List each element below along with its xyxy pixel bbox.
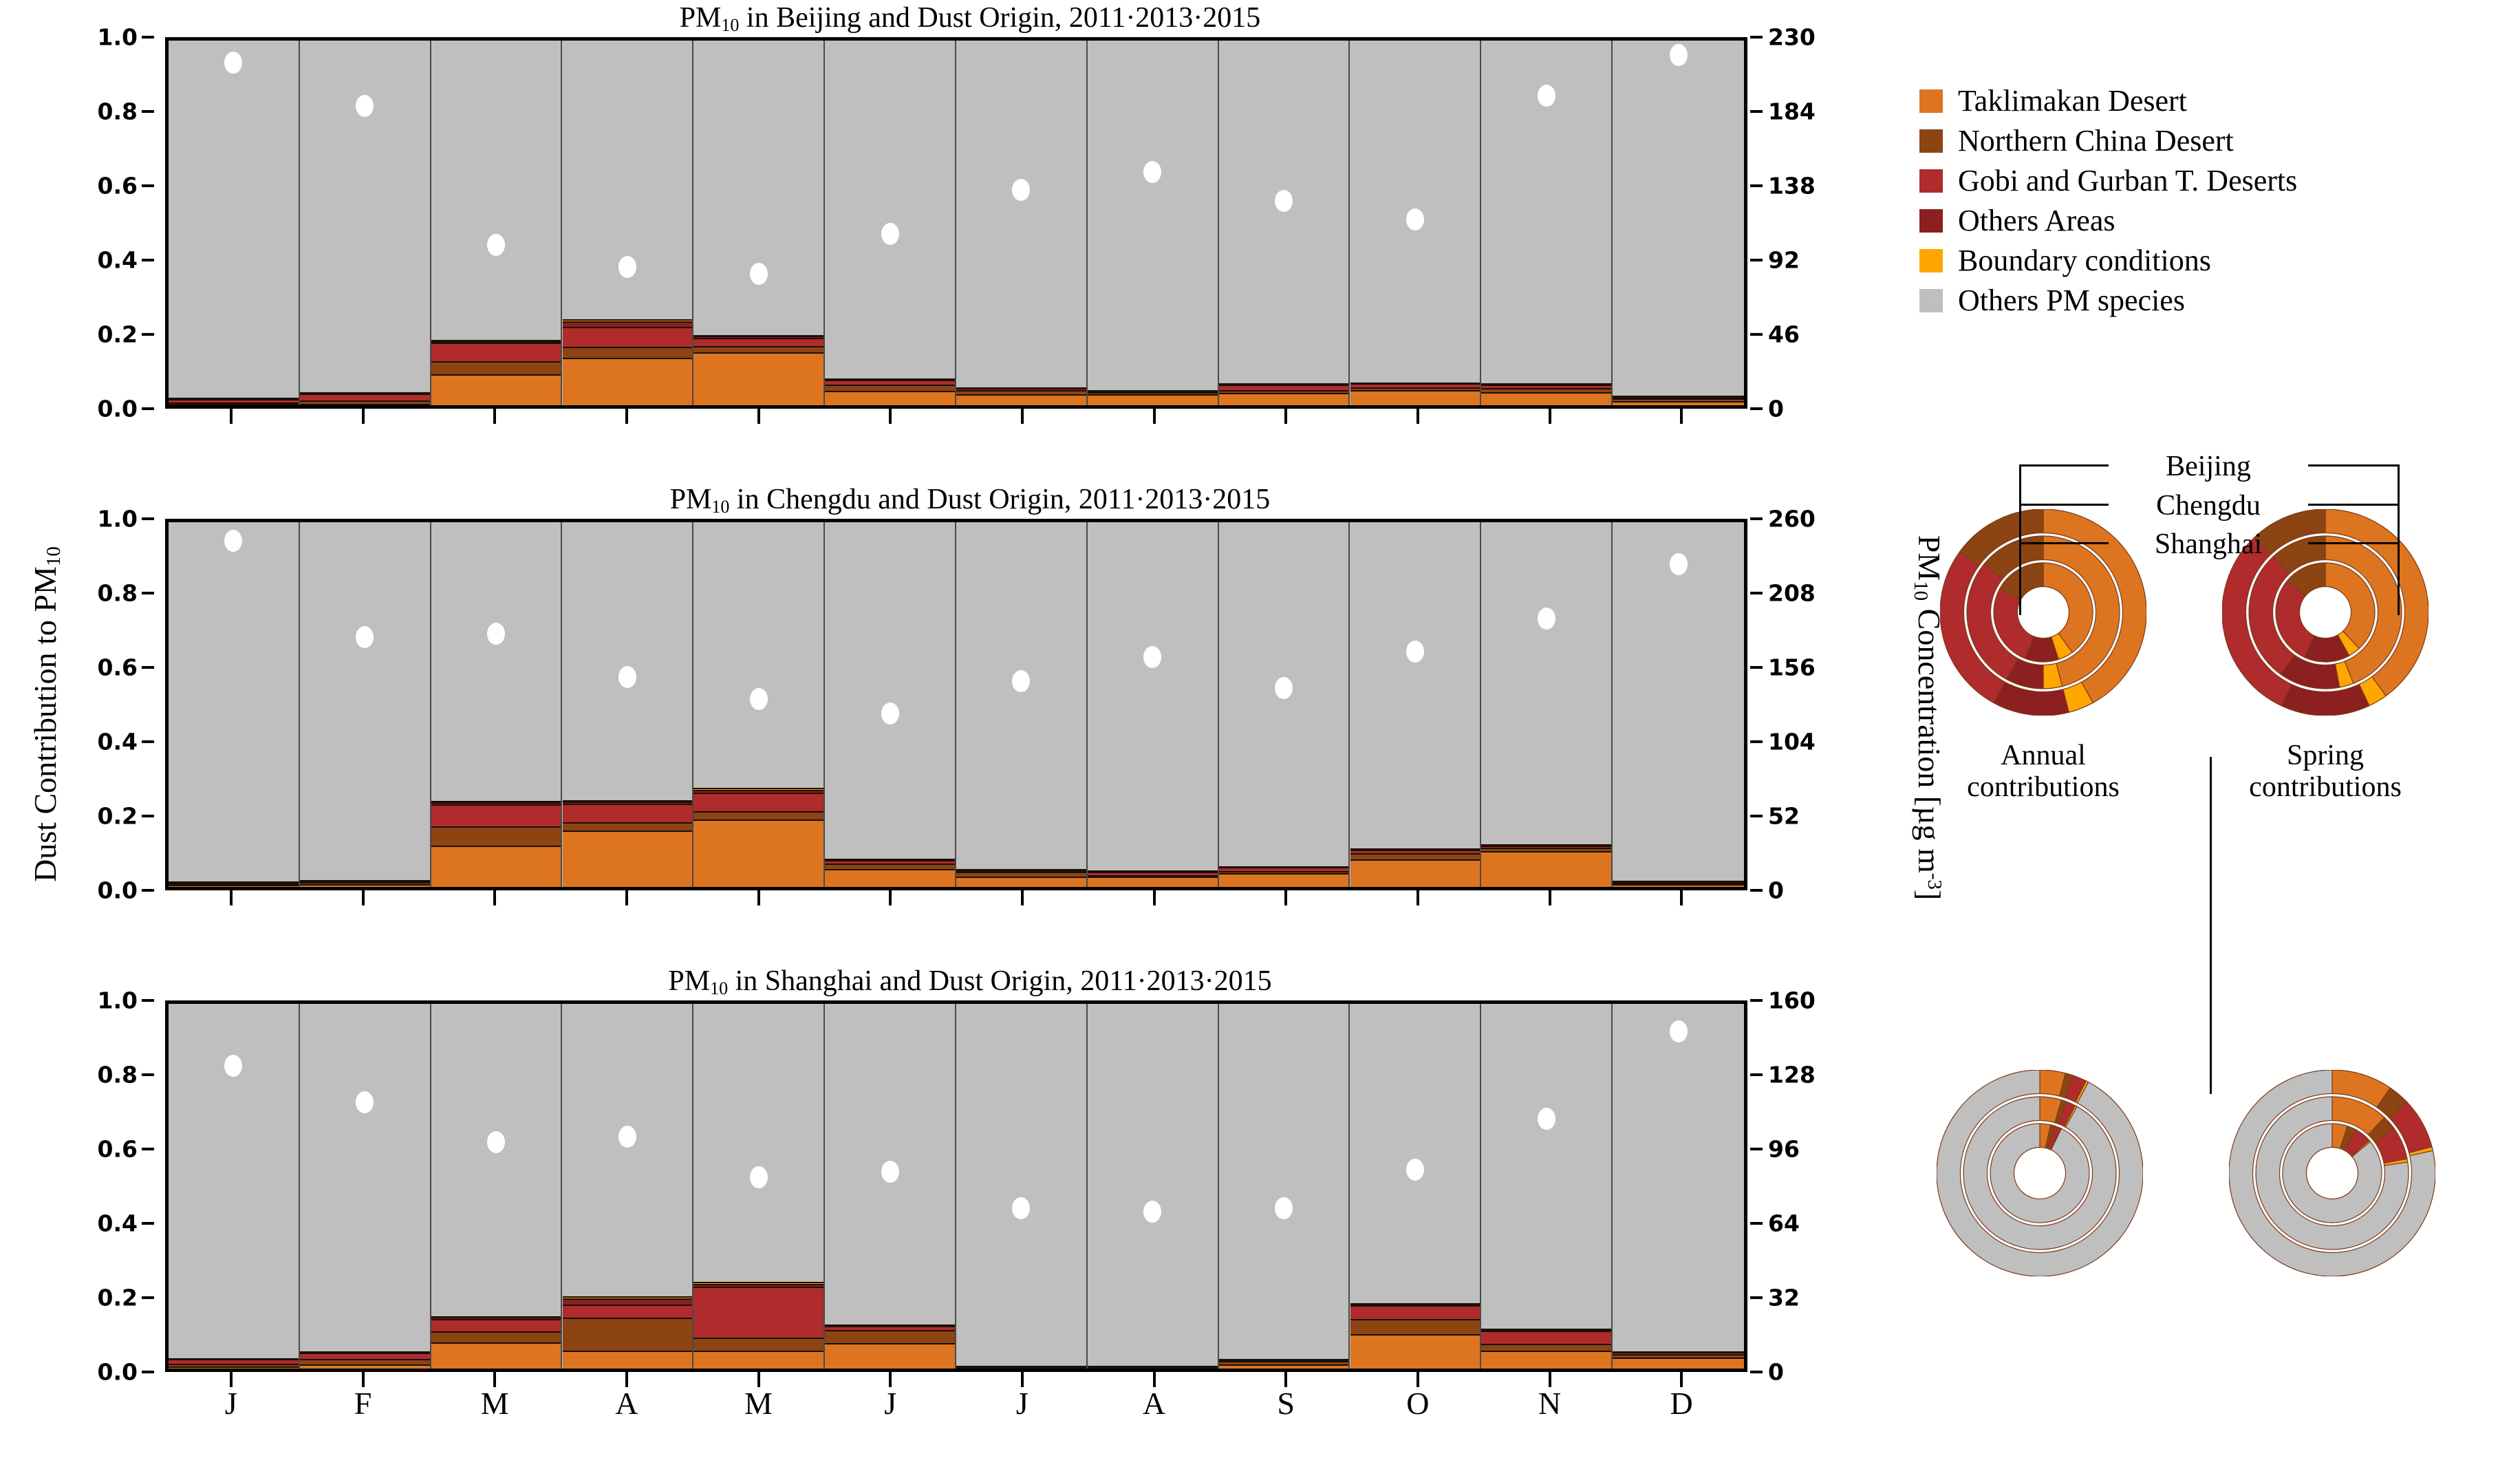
title-sub: 10 [710,978,728,998]
concentration-marker [750,1166,768,1188]
bar-segment [825,391,955,405]
leader-line-vertical [2019,542,2021,615]
y-tickmark-right [1750,815,1763,817]
x-tickmark [625,1372,628,1387]
bar-segment [1219,1364,1349,1369]
bar-segment [1088,391,1218,392]
bar-segment [693,1284,823,1287]
bar-segment [300,522,430,880]
x-axis-shanghai: JFMAMJJASOND [165,1372,1747,1420]
x-axis-beijing [165,409,1747,457]
x-axis-label-4: M [744,1387,773,1420]
bar-segment [956,522,1086,869]
x-tickmark [1153,1372,1156,1387]
x-axis-label-10: N [1538,1387,1561,1420]
legend-swatch-others_areas [1919,209,1943,233]
bar-segment [169,522,299,881]
concentration-marker [750,688,768,710]
bar-segment [1613,397,1744,399]
bar-segment [300,1364,430,1369]
x-tickmark [230,409,233,424]
x-tickmark [1021,409,1024,424]
y-tickmark-left [142,407,154,410]
bar-segment [563,1318,693,1351]
bar-segment [693,1004,823,1282]
y-tick-left: 1.0 [98,508,138,530]
y-tickmark-left [142,815,154,817]
y-tick-right: 230 [1768,26,1816,49]
x-axis-label-3: A [615,1387,638,1420]
leader-line-horizontal [2308,464,2398,466]
y-tick-right: 32 [1768,1287,1800,1309]
bar-segment [1613,1004,1744,1351]
legend-item-boundary: Boundary conditions [1919,241,2520,281]
x-axis-label-0: J [225,1387,237,1420]
bar-segment [956,877,1086,887]
x-tickmark [362,1372,365,1387]
donut-ring-label-shanghai: Shanghai [2112,528,2305,560]
y-tick-right: 46 [1768,323,1800,346]
x-tickmark [1021,890,1024,905]
panel-beijing: PM10 in Beijing and Dust Origin, 2011·20… [0,0,1899,482]
x-tickmark [757,890,760,905]
bar-column-a-7 [1088,522,1219,887]
bar-segment [300,1359,430,1364]
y-tick-left: 0.6 [98,1138,138,1161]
bar-segment [1219,873,1349,887]
x-tickmark [1680,890,1683,905]
bar-column-j-0 [169,41,300,405]
concentration-marker [1538,1108,1555,1130]
y-axis-left-shanghai: 1.00.80.60.40.20.0 [0,1000,160,1372]
bar-segment [1219,1361,1349,1364]
x-axis-chengdu [165,890,1747,939]
bar-segment [1350,850,1480,853]
concentration-marker [618,256,636,278]
bar-segment [431,41,561,340]
panel-chengdu: PM10 in Chengdu and Dust Origin, 2011·20… [0,482,1899,963]
concentration-marker [356,1091,374,1113]
x-tickmark [889,1372,892,1387]
x-tickmark [1549,1372,1551,1387]
bar-segment [563,1351,693,1369]
bar-column-n-10 [1481,522,1613,887]
bar-segment [431,846,561,887]
y-tickmark-right [1750,110,1763,113]
y-tickmark-left [142,889,154,892]
concentration-marker [881,1161,899,1183]
bar-segment [1613,883,1744,884]
bar-segment [300,394,430,400]
y-axis-right-shanghai: 1601289664320 [1747,1000,1885,1372]
y-tickmark-right [1750,1371,1763,1373]
bar-segment [431,1004,561,1316]
bars-chengdu [169,522,1744,887]
bar-segment [1219,393,1349,405]
y-axis-left-chengdu: 1.00.80.60.40.20.0 [0,519,160,890]
bar-segment [563,347,693,358]
y-tick-right: 138 [1768,175,1816,197]
bar-segment [563,522,693,800]
bar-segment [1481,385,1611,388]
bar-segment [563,800,693,802]
x-tickmark [1021,1372,1024,1387]
x-tickmark [1549,890,1551,905]
bar-segment [1088,522,1218,870]
bar-column-a-3 [563,522,694,887]
legend-swatch-northern_china [1919,129,1943,153]
bar-segment [693,811,823,819]
bar-segment [1613,41,1744,396]
y-tickmark-right [1750,1073,1763,1076]
bar-segment [1219,385,1349,390]
bar-column-d-11 [1613,522,1744,887]
bar-segment [825,869,955,888]
concentration-marker [1670,553,1688,575]
title-prefix: PM [670,484,712,515]
bar-segment [563,1296,693,1298]
bar-segment [431,802,561,804]
x-tickmark [362,409,365,424]
legend-item-others_pm: Others PM species [1919,281,2520,321]
bar-segment [169,1359,299,1363]
concentration-marker [1143,161,1161,183]
bar-segment [563,41,693,319]
bar-segment [825,1326,955,1330]
concentration-marker [224,52,242,74]
bar-segment [1481,1351,1611,1369]
legend-label-gobi_gurban: Gobi and Gurban T. Deserts [1958,165,2297,197]
y-tick-left: 0.4 [98,731,138,753]
legend-item-others_areas: Others Areas [1919,201,2520,241]
donut-ring-label-beijing: Beijing [2112,451,2305,482]
bar-segment [431,804,561,826]
legend-and-donuts: Taklimakan Desert Northern China DesertG… [1899,0,2520,1480]
bar-segment [169,41,299,398]
y-tickmark-right [1750,333,1763,336]
legend-swatch-taklimakan [1919,89,1943,113]
concentration-marker [881,703,899,725]
leader-line-horizontal [2019,542,2109,544]
bar-segment [431,826,561,846]
bar-segment [825,860,955,864]
y-tickmark-right [1750,1296,1763,1299]
y-tick-left: 0.8 [98,100,138,123]
bar-segment [1481,1329,1611,1331]
y-tick-right: 64 [1768,1212,1800,1235]
donut-caption-spring: Springcontributions [2201,740,2449,803]
bar-segment [169,885,299,887]
y-tickmark-right [1750,889,1763,892]
bars-beijing [169,41,1744,405]
concentration-marker [1012,670,1030,692]
y-tickmark-right [1750,999,1763,1002]
x-tickmark [493,1372,496,1387]
legend-swatch-others_pm [1919,289,1943,312]
panel-title-shanghai: PM10 in Shanghai and Dust Origin, 2011·2… [165,966,1775,998]
bar-segment [956,394,1086,405]
bar-segment [825,522,955,859]
bar-column-a-3 [563,1004,694,1369]
legend-item-northern_china: Northern China Desert [1919,121,2520,161]
y-tick-right: 208 [1768,582,1816,605]
bar-segment [1613,522,1744,881]
y-tick-right: 0 [1768,1361,1784,1384]
concentration-marker [1143,646,1161,668]
legend-label-others_areas: Others Areas [1958,205,2115,237]
bar-column-j-6 [956,41,1088,405]
bars-shanghai [169,1004,1744,1369]
concentration-marker [1670,1020,1688,1042]
bar-column-f-1 [300,1004,431,1369]
legend-item-gobi_gurban: Gobi and Gurban T. Deserts [1919,161,2520,201]
bar-segment [1481,848,1611,851]
x-tickmark [625,890,628,905]
bar-column-m-4 [693,1004,825,1369]
y-tickmark-right [1750,1222,1763,1225]
bar-segment [1481,846,1611,848]
y-tick-right: 96 [1768,1138,1800,1161]
x-axis-label-8: S [1277,1387,1295,1420]
bar-segment [1613,1354,1744,1358]
leader-line-horizontal [2308,542,2398,544]
x-tickmark [889,890,892,905]
bar-segment [169,399,299,403]
concentration-marker [1012,1197,1030,1219]
concentration-marker [1406,641,1424,663]
x-tickmark [1153,409,1156,424]
y-tick-left: 0.4 [98,249,138,272]
bar-segment [825,864,955,868]
bar-segment [563,1004,693,1296]
bar-column-j-6 [956,1004,1088,1369]
y-axis-right-beijing: 23018413892460 [1747,37,1885,409]
bar-segment [693,790,823,793]
x-tickmark [1417,890,1419,905]
bar-segment [693,819,823,887]
bar-segment [693,336,823,338]
bar-segment [431,522,561,801]
y-tickmark-left [142,517,154,520]
bar-column-m-2 [431,522,563,887]
y-tick-left: 0.2 [98,1287,138,1309]
y-tickmark-left [142,592,154,594]
y-tickmark-left [142,110,154,113]
bar-segment [693,1287,823,1338]
concentration-marker [618,1126,636,1148]
bar-segment [1613,401,1744,405]
bar-segment [693,352,823,405]
bar-column-m-2 [431,1004,563,1369]
y-axis-right-chengdu: 260208156104520 [1747,519,1885,890]
bar-segment [431,340,561,341]
bar-segment [1613,1358,1744,1369]
bar-segment [693,1338,823,1351]
title-rest: in Shanghai and Dust Origin, 2011·2013·2… [728,965,1272,997]
bar-segment [956,872,1086,877]
bar-segment [693,522,823,788]
bar-segment [300,882,430,884]
bar-segment [563,804,693,823]
x-axis-label-7: A [1143,1387,1165,1420]
y-tick-left: 0.0 [98,879,138,902]
y-tick-left: 0.8 [98,582,138,605]
y-tick-right: 160 [1768,989,1816,1012]
x-tickmark [230,1372,233,1387]
bar-segment [563,802,693,804]
title-rest: in Chengdu and Dust Origin, 2011·2013·20… [729,484,1270,515]
concentration-marker [224,1055,242,1077]
x-tickmark [1284,890,1287,905]
concentration-marker [356,626,374,648]
bar-segment [956,1004,1086,1366]
y-tickmark-left [142,184,154,187]
bar-segment [1481,1331,1611,1344]
leader-line-horizontal [2308,504,2398,506]
concentration-marker [1275,1197,1293,1219]
bar-segment [1613,884,1744,887]
concentration-marker [1275,190,1293,212]
bar-segment [169,1366,299,1369]
bar-column-j-5 [825,41,956,405]
x-axis-label-9: O [1406,1387,1429,1420]
y-axis-left-beijing: 1.00.80.60.40.20.0 [0,37,160,409]
legend-label-taklimakan: Taklimakan Desert [1958,85,2187,117]
bar-segment [563,319,693,321]
y-tickmark-left [142,333,154,336]
bar-column-o-9 [1350,41,1482,405]
x-tickmark [1680,1372,1683,1387]
bar-segment [300,404,430,405]
bar-segment [1350,387,1480,390]
bar-column-s-8 [1219,41,1350,405]
bar-segment [1481,392,1611,405]
legend-label-boundary: Boundary conditions [1958,245,2211,277]
x-axis-label-1: F [354,1387,372,1420]
bar-segment [693,1282,823,1283]
bar-segment [956,388,1086,390]
bar-segment [1350,853,1480,859]
bar-segment [431,341,561,343]
stacked-bar-figure: Dust Contribution to PM10 PM10 Concentra… [0,0,1899,1480]
plot-area-chengdu [165,519,1747,890]
y-tick-left: 1.0 [98,26,138,49]
bar-segment [1219,867,1349,870]
y-tickmark-left [142,740,154,743]
y-tick-left: 0.8 [98,1064,138,1086]
bar-column-j-0 [169,1004,300,1369]
y-tick-right: 0 [1768,398,1784,420]
y-tickmark-right [1750,407,1763,410]
bar-segment [169,1364,299,1366]
y-tickmark-left [142,1371,154,1373]
concentration-marker [1670,44,1688,66]
concentration-marker [750,263,768,285]
bar-column-a-7 [1088,1004,1219,1369]
concentration-marker [1143,1201,1161,1223]
bar-segment [825,1343,955,1369]
bar-segment [300,1353,430,1360]
bar-column-j-6 [956,522,1088,887]
bar-column-a-3 [563,41,694,405]
x-tickmark [757,409,760,424]
bar-segment [431,1342,561,1369]
bar-segment [1350,1304,1480,1305]
caption-line-1: Spring [2201,740,2449,771]
bar-segment [825,1330,955,1343]
panel-title-beijing: PM10 in Beijing and Dust Origin, 2011·20… [165,3,1775,34]
x-tickmark [493,409,496,424]
x-tickmark [1417,1372,1419,1387]
bar-segment [300,1004,430,1351]
bar-segment [563,1298,693,1305]
y-tick-left: 0.6 [98,175,138,197]
caption-line-2: contributions [2201,771,2449,803]
bar-segment [693,788,823,790]
x-tickmark [362,890,365,905]
bar-segment [1219,1360,1349,1361]
bar-segment [1350,383,1480,387]
concentration-marker [1406,208,1424,230]
bar-column-j-0 [169,522,300,887]
y-tickmark-right [1750,1148,1763,1150]
bar-column-d-11 [1613,1004,1744,1369]
x-tickmark [1680,409,1683,424]
donut-ring-label-chengdu: Chengdu [2112,490,2305,522]
y-tickmark-left [142,1222,154,1225]
concentration-marker [1012,179,1030,201]
bar-segment [693,793,823,812]
x-tickmark [889,409,892,424]
bar-segment [431,361,561,374]
bar-segment [563,327,693,347]
y-tick-right: 92 [1768,249,1800,272]
bar-segment [693,338,823,346]
bar-column-n-10 [1481,1004,1613,1369]
y-tick-right: 0 [1768,879,1784,902]
bar-segment [169,403,299,404]
legend-label-northern_china: Northern China Desert [1958,125,2234,157]
bar-column-d-11 [1613,41,1744,405]
bar-segment [1088,392,1218,394]
column-divider [2210,757,2212,1094]
y-tick-left: 1.0 [98,989,138,1012]
y-tickmark-left [142,1296,154,1299]
x-tickmark [493,890,496,905]
bar-segment [1481,1004,1611,1329]
bar-segment [431,1317,561,1319]
plot-area-beijing [165,37,1747,409]
bar-segment [1088,1004,1218,1366]
y-tick-left: 0.4 [98,1212,138,1235]
concentration-marker [487,623,505,645]
bar-segment [300,884,430,887]
y-tick-right: 128 [1768,1064,1816,1086]
bar-column-j-5 [825,522,956,887]
title-prefix: PM [668,965,710,997]
concentration-marker [1538,608,1555,630]
y-tick-left: 0.0 [98,1361,138,1384]
y-tickmark-right [1750,259,1763,261]
y-tickmark-left [142,259,154,261]
bar-column-j-5 [825,1004,956,1369]
bar-segment [563,358,693,405]
bar-segment [1219,871,1349,873]
x-tickmark [757,1372,760,1387]
y-tickmark-left [142,999,154,1002]
x-tickmark [625,409,628,424]
x-tickmark [1284,409,1287,424]
